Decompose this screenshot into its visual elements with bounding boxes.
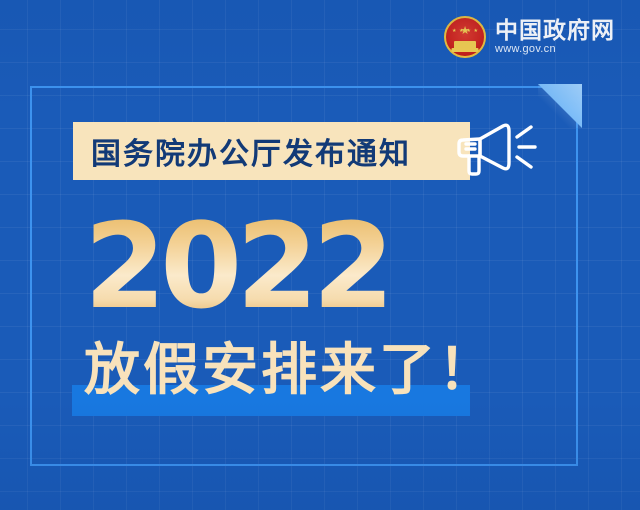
folded-corner-icon xyxy=(538,84,582,128)
site-name: 中国政府网 xyxy=(495,19,615,42)
year-title: 2022 xyxy=(84,207,388,325)
site-logo-text: 中国政府网 www.gov.cn xyxy=(495,19,615,55)
emblem-base xyxy=(452,48,479,52)
notice-banner: 国务院办公厅发布通知 xyxy=(73,122,470,180)
china-national-emblem-icon: ★ ★★★★ xyxy=(444,16,486,58)
notice-banner-label: 国务院办公厅发布通知 xyxy=(91,129,411,173)
site-logo[interactable]: ★ ★★★★ 中国政府网 www.gov.cn xyxy=(444,16,615,58)
emblem-small-stars: ★★★★ xyxy=(452,29,478,39)
megaphone-icon xyxy=(447,113,539,183)
poster-canvas: ★ ★★★★ 中国政府网 www.gov.cn 国务院办公厅发布通知 xyxy=(0,0,640,510)
site-url: www.gov.cn xyxy=(495,44,615,55)
headline-title: 放假安排来了！ xyxy=(84,341,497,400)
